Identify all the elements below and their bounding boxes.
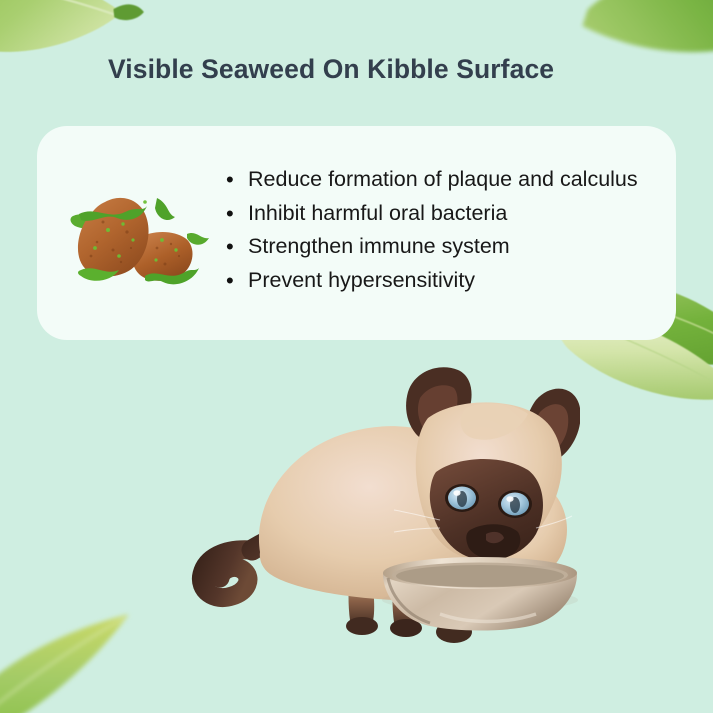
- bullet-marker-icon: •: [226, 199, 248, 228]
- list-item: • Reduce formation of plaque and calculu…: [226, 165, 666, 199]
- bullet-marker-icon: •: [226, 165, 248, 194]
- list-item: • Inhibit harmful oral bacteria: [226, 199, 666, 233]
- kibble-with-seaweed-image: [61, 186, 211, 306]
- bullet-marker-icon: •: [226, 232, 248, 261]
- siamese-cat-eating-from-bowl-photo: [140, 352, 580, 652]
- leaf-bottom-left-icon: [0, 609, 154, 713]
- list-item: • Prevent hypersensitivity: [226, 266, 666, 300]
- benefits-list: • Reduce formation of plaque and calculu…: [226, 165, 666, 299]
- list-item-label: Inhibit harmful oral bacteria: [248, 199, 507, 228]
- page-title: Visible Seaweed On Kibble Surface: [108, 54, 608, 85]
- promo-graphic: Visible Seaweed On Kibble Surface: [0, 0, 713, 713]
- list-item-label: Prevent hypersensitivity: [248, 266, 475, 295]
- list-item: • Strengthen immune system: [226, 232, 666, 266]
- list-item-label: Reduce formation of plaque and calculus: [248, 165, 638, 194]
- list-item-label: Strengthen immune system: [248, 232, 510, 261]
- bullet-marker-icon: •: [226, 266, 248, 295]
